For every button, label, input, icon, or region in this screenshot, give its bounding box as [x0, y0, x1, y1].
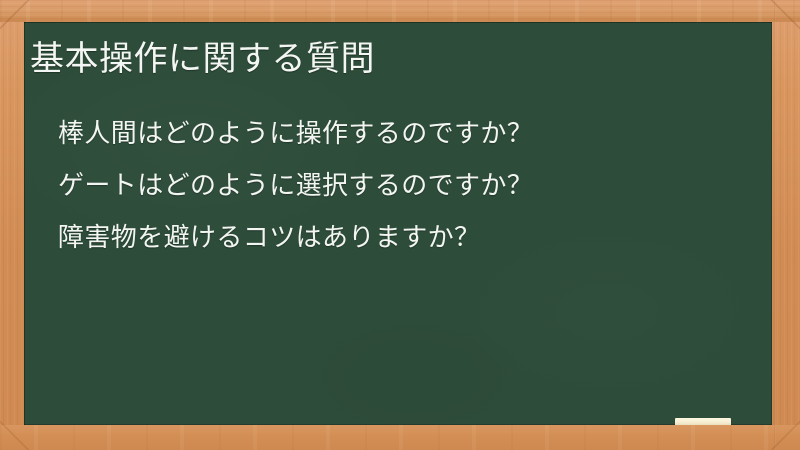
- slide-content: 基本操作に関する質問 棒人間はどのように操作するのですか？ ゲートはどのように選…: [24, 22, 772, 425]
- list-item: 障害物を避けるコツはありますか？: [58, 212, 748, 264]
- chalk-stick-icon: [675, 418, 731, 425]
- frame-rail-bottom: [0, 425, 800, 450]
- question-list: 棒人間はどのように操作するのですか？ ゲートはどのように選択するのですか？ 障害…: [58, 108, 748, 264]
- list-item: 棒人間はどのように操作するのですか？: [58, 108, 748, 160]
- chalkboard-frame: 基本操作に関する質問 棒人間はどのように操作するのですか？ ゲートはどのように選…: [0, 0, 800, 450]
- chalkboard-surface: 基本操作に関する質問 棒人間はどのように操作するのですか？ ゲートはどのように選…: [24, 22, 772, 425]
- frame-rail-top: [0, 0, 800, 22]
- page-title: 基本操作に関する質問: [30, 38, 375, 80]
- frame-miter-top-right: [768, 0, 800, 30]
- list-item: ゲートはどのように選択するのですか？: [58, 160, 748, 212]
- frame-miter-bottom-right: [768, 420, 800, 450]
- frame-rail-right-seam: [774, 0, 776, 450]
